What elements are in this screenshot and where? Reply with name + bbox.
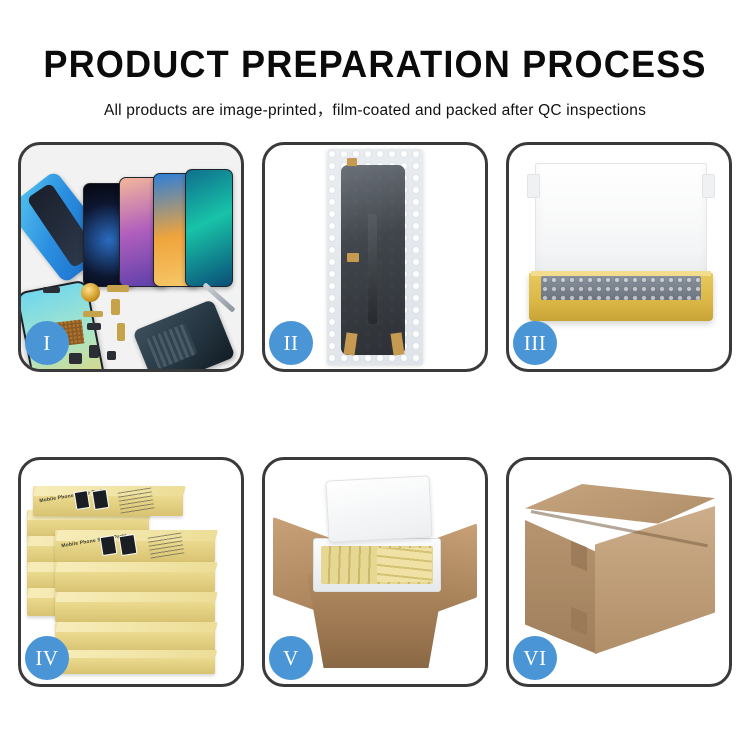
step-badge-6: VI [513, 636, 557, 680]
step-panel-1: I [18, 142, 244, 372]
chip-icon [69, 353, 82, 364]
flex-cable-icon [111, 299, 120, 315]
opened-phone-back-icon [133, 299, 236, 369]
step-badge-4: IV [25, 636, 69, 680]
box-window-icon [92, 489, 110, 510]
phone-fan-group [83, 165, 233, 287]
box-window-icon [119, 534, 138, 556]
foam-lid-icon [325, 475, 432, 542]
box-spec-lines-icon [117, 487, 154, 514]
gold-coil-icon [81, 283, 100, 302]
flex-cable-icon [83, 311, 103, 317]
step-panel-2: II [262, 142, 488, 372]
step-badge-5: V [269, 636, 313, 680]
box-window-icon [100, 535, 118, 556]
step-panel-5: V [262, 457, 488, 687]
packed-boxes-icon [377, 548, 432, 582]
chip-icon [87, 323, 101, 330]
process-steps-grid: I II III [18, 142, 732, 687]
spare-parts-box [55, 650, 215, 674]
tape-piece-icon [347, 158, 357, 166]
phone-screen-teal-icon [185, 169, 233, 287]
spare-parts-box-top: Mobile Phone Spare Parts [33, 486, 183, 516]
chip-icon [43, 287, 60, 293]
header: PRODUCT PREPARATION PROCESS All products… [0, 0, 750, 120]
box-lid-icon [535, 163, 707, 285]
flex-cable-icon [107, 285, 129, 292]
yellow-box-base-icon [529, 273, 713, 321]
spare-parts-box [55, 562, 215, 592]
page-title: PRODUCT PREPARATION PROCESS [19, 46, 732, 84]
flex-cable-icon [117, 323, 125, 341]
chip-icon [89, 345, 99, 358]
spare-parts-box [55, 592, 215, 622]
product-preparation-infographic: PRODUCT PREPARATION PROCESS All products… [0, 0, 750, 750]
step-badge-3: III [513, 321, 557, 365]
spare-parts-box-second: Mobile Phone Spare Parts [55, 530, 215, 562]
sealed-carton-illustration [525, 484, 715, 660]
box-window-icon [74, 490, 91, 510]
foam-insert-icon [313, 538, 441, 592]
page-subtitle: All products are image-printed，film-coat… [0, 98, 750, 120]
step-panel-6: VI [506, 457, 732, 687]
chip-icon [107, 351, 116, 360]
step-badge-1: I [25, 321, 69, 365]
tape-piece-icon [347, 253, 359, 262]
step-panel-4: Mobile Phone Spare Parts Mobile Phone Sp… [18, 457, 244, 687]
spare-parts-box [55, 622, 215, 652]
bubble-filled-contents-icon [541, 276, 701, 300]
step-panel-3: III [506, 142, 732, 372]
box-spec-lines-icon [147, 532, 184, 559]
step-badge-2: II [269, 321, 313, 365]
bubble-wrap-icon [327, 149, 423, 365]
